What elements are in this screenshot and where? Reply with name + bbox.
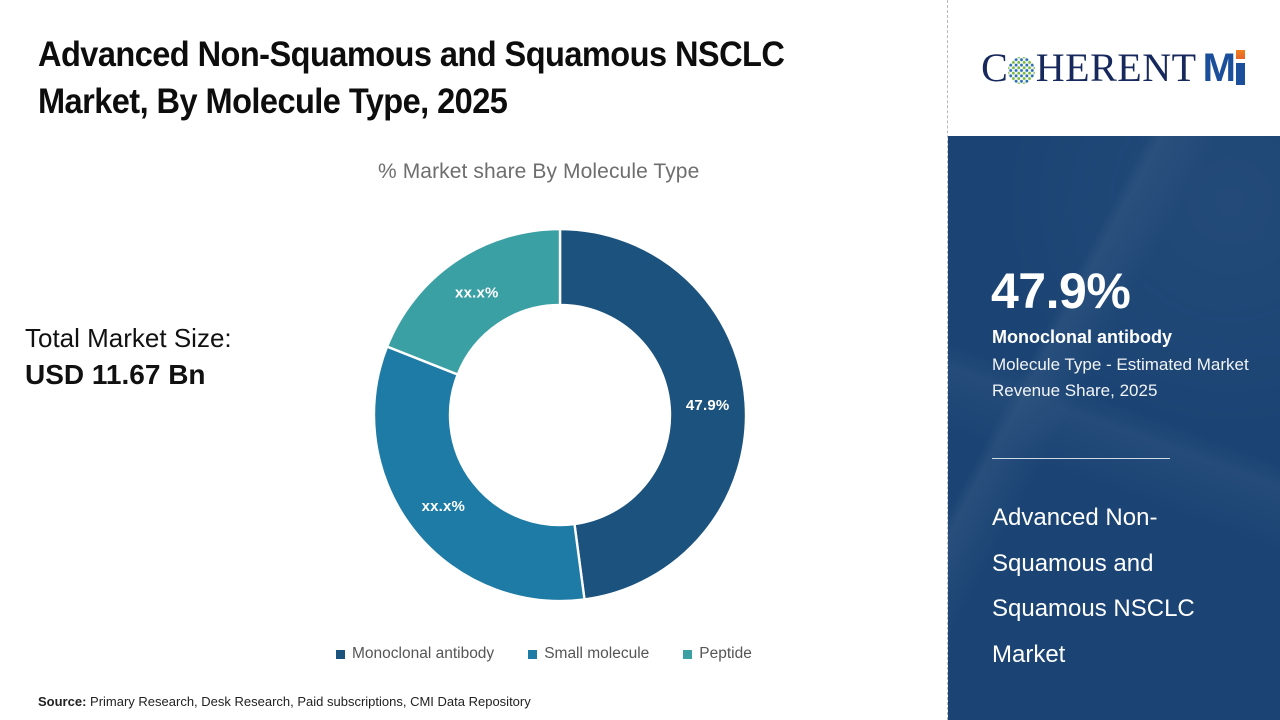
legend-item[interactable]: Monoclonal antibody [336,645,494,663]
globe-icon [1008,57,1035,84]
total-market-size: Total Market Size: USD 11.67 Bn [25,322,325,393]
stat-divider [992,458,1170,459]
logo-i-stem [1236,63,1245,85]
sidebar-panel: C HERENT M 47.9% Monoclonal antibody Mol… [948,0,1280,720]
page-title: Advanced Non-Squamous and Squamous NSCLC… [38,32,856,125]
legend-item[interactable]: Small molecule [528,645,649,663]
chart-subtitle: % Market share By Molecule Type [378,160,699,184]
coherentmi-logo[interactable]: C HERENT M [981,48,1247,88]
logo-bar: C HERENT M [948,0,1280,136]
stat-segment-name: Monoclonal antibody [992,326,1172,349]
stat-description: Molecule Type - Estimated Market Revenue… [992,352,1260,405]
total-market-size-label: Total Market Size: [25,322,325,355]
logo-letter-m: M [1203,48,1235,88]
legend-label: Monoclonal antibody [352,645,494,663]
source-label: Source: [38,694,86,709]
source-text: Primary Research, Desk Research, Paid su… [90,694,531,709]
donut-slice-label: xx.x% [455,285,499,302]
chart-legend: Monoclonal antibodySmall moleculePeptide [336,645,752,663]
legend-swatch-icon [528,650,537,659]
total-market-size-value: USD 11.67 Bn [25,357,325,393]
donut-chart: 47.9%xx.x%xx.x% [374,229,746,601]
legend-label: Small molecule [544,645,649,663]
donut-slice-label: xx.x% [422,498,466,515]
legend-item[interactable]: Peptide [683,645,752,663]
logo-letter-i [1236,48,1247,88]
legend-swatch-icon [336,650,345,659]
main-content: Advanced Non-Squamous and Squamous NSCLC… [0,0,947,720]
source-note: Source: Primary Research, Desk Research,… [38,694,531,709]
donut-slice[interactable] [387,229,560,375]
legend-swatch-icon [683,650,692,659]
donut-slice[interactable] [374,347,584,601]
logo-i-dot [1236,50,1245,59]
donut-slice-label: 47.9% [686,397,730,414]
infographic-page: Advanced Non-Squamous and Squamous NSCLC… [0,0,1280,720]
donut-chart-svg: 47.9%xx.x%xx.x% [374,229,746,601]
logo-text-herent: HERENT [1036,48,1197,88]
market-name: Advanced Non-Squamous and Squamous NSCLC… [992,495,1242,677]
logo-letter-c: C [981,48,1008,88]
legend-label: Peptide [699,645,752,663]
stat-value: 47.9% [991,266,1130,316]
